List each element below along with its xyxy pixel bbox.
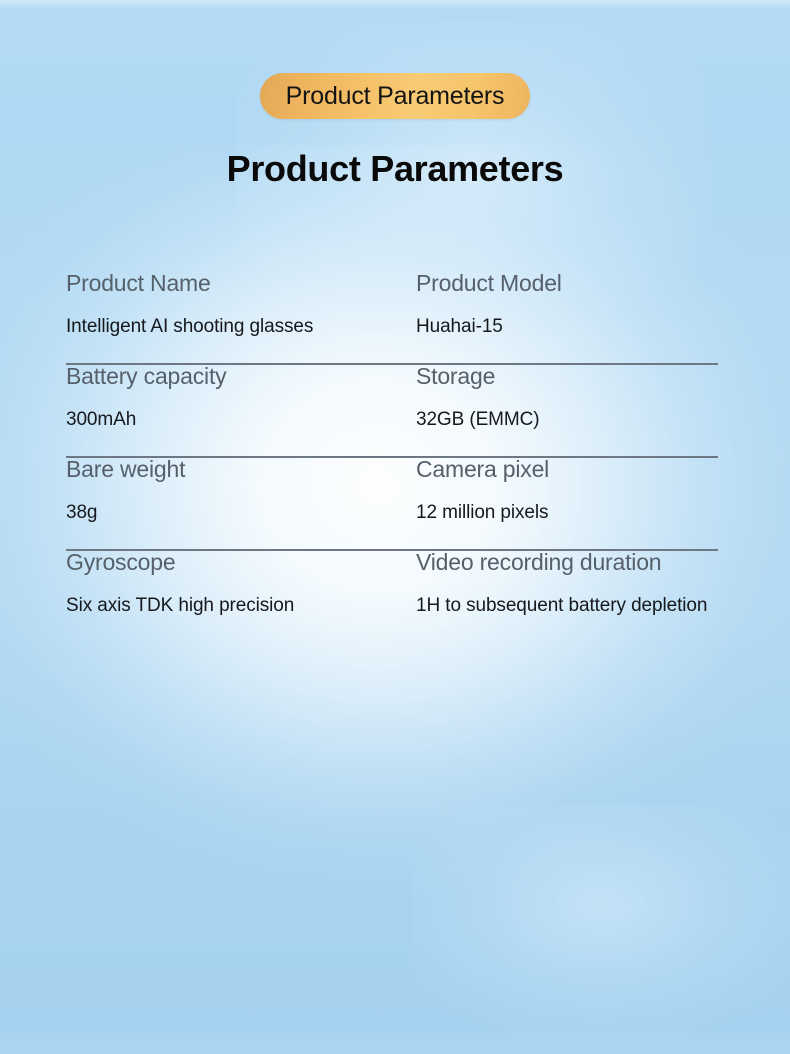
spec-cell-left: Battery capacity 300mAh bbox=[66, 365, 415, 429]
spec-value: Six axis TDK high precision bbox=[66, 596, 415, 615]
spec-label: Bare weight bbox=[66, 458, 415, 481]
spec-cell-right: Storage 32GB (EMMC) bbox=[415, 365, 718, 429]
spec-cell-left: Product Name Intelligent AI shooting gla… bbox=[66, 272, 415, 336]
spec-value: 300mAh bbox=[66, 410, 415, 429]
spec-cell-right: Camera pixel 12 million pixels bbox=[415, 458, 718, 522]
spec-label: Video recording duration bbox=[416, 551, 718, 574]
table-row: Battery capacity 300mAh Storage 32GB (EM… bbox=[66, 365, 718, 458]
section-badge-container: Product Parameters bbox=[0, 73, 790, 119]
product-parameters-page: Product Parameters Product Parameters Pr… bbox=[0, 0, 790, 1033]
spec-label: Gyroscope bbox=[66, 551, 415, 574]
spec-label: Battery capacity bbox=[66, 365, 415, 388]
specifications-table: Product Name Intelligent AI shooting gla… bbox=[66, 272, 718, 644]
table-row: Product Name Intelligent AI shooting gla… bbox=[66, 272, 718, 365]
table-row: Gyroscope Six axis TDK high precision Vi… bbox=[66, 551, 718, 644]
row-bottom-spacer bbox=[66, 615, 718, 644]
spec-value: 1H to subsequent battery depletion bbox=[416, 596, 718, 615]
spec-value: Intelligent AI shooting glasses bbox=[66, 317, 415, 336]
page-title: Product Parameters bbox=[0, 148, 790, 190]
spec-value: Huahai-15 bbox=[416, 317, 718, 336]
spec-label: Product Name bbox=[66, 272, 415, 295]
spec-label: Product Model bbox=[416, 272, 718, 295]
spec-cell-right: Video recording duration 1H to subsequen… bbox=[415, 551, 718, 615]
spec-label: Camera pixel bbox=[416, 458, 718, 481]
table-row: Bare weight 38g Camera pixel 12 million … bbox=[66, 458, 718, 551]
spec-cell-left: Bare weight 38g bbox=[66, 458, 415, 522]
spec-cell-right: Product Model Huahai-15 bbox=[415, 272, 718, 336]
section-badge: Product Parameters bbox=[260, 73, 531, 119]
spec-value: 12 million pixels bbox=[416, 503, 718, 522]
spec-label: Storage bbox=[416, 365, 718, 388]
spec-value: 32GB (EMMC) bbox=[416, 410, 718, 429]
spec-cell-left: Gyroscope Six axis TDK high precision bbox=[66, 551, 415, 615]
spec-value: 38g bbox=[66, 503, 415, 522]
